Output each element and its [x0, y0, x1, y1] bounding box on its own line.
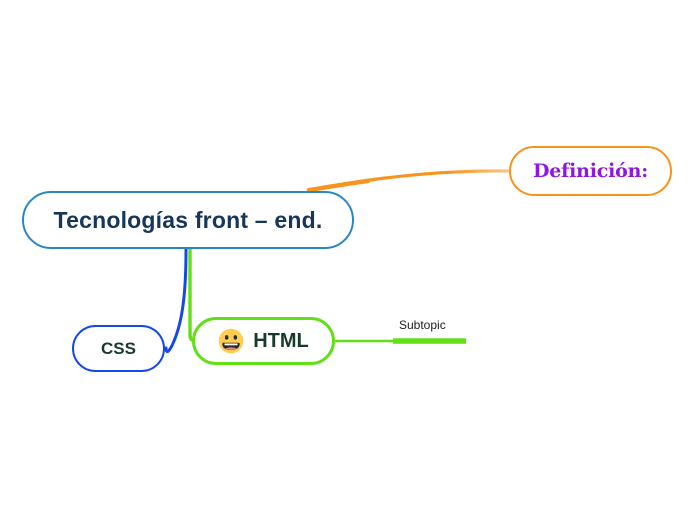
- topic-node-html-label: HTML: [253, 330, 309, 353]
- connector-central-to-definicion: [309, 171, 508, 190]
- subtopic-node-label: Subtopic: [399, 318, 446, 332]
- central-topic-label: Tecnologías front – end.: [54, 207, 323, 234]
- connector-central-to-css: [166, 249, 186, 352]
- topic-node-html[interactable]: HTML: [192, 317, 335, 365]
- mindmap-canvas: Tecnologías front – end. Definición: CSS…: [0, 0, 696, 520]
- central-topic-node[interactable]: Tecnologías front – end.: [22, 191, 354, 249]
- connector-layer: [0, 0, 696, 520]
- subtopic-node[interactable]: Subtopic: [399, 316, 446, 334]
- topic-node-definicion[interactable]: Definición:: [509, 146, 672, 196]
- topic-node-css[interactable]: CSS: [72, 325, 165, 372]
- grinning-face-emoji-icon: [218, 328, 244, 354]
- topic-node-definicion-label: Definición:: [533, 160, 648, 182]
- topic-node-css-label: CSS: [101, 339, 136, 359]
- connector-central-to-definicion-taper: [309, 181, 368, 190]
